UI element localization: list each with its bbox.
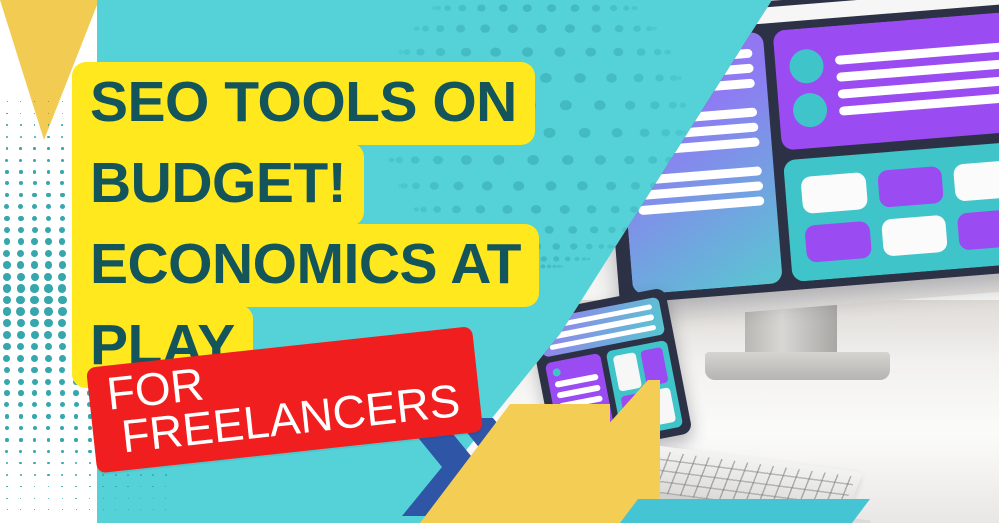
dashboard-tile	[881, 215, 948, 257]
dashboard-card-teal	[783, 140, 999, 282]
promo-banner: SEO TOOLS ON BUDGET! ECONOMICS AT PLAY F…	[0, 0, 999, 523]
dashboard-tile	[800, 172, 867, 214]
avatar-circle-icon	[788, 48, 825, 85]
dashboard-panel-right	[773, 11, 999, 282]
dashboard-tile	[877, 166, 944, 208]
teal-parallelogram	[620, 499, 870, 523]
text-block	[835, 42, 999, 116]
headline-line-1: SEO TOOLS ON	[72, 62, 535, 145]
headline-line-3: ECONOMICS AT	[72, 224, 539, 307]
avatar-group	[788, 48, 828, 128]
dashboard-tile	[804, 221, 871, 263]
headline-line-2: BUDGET!	[72, 143, 364, 226]
dashboard-tile	[957, 208, 999, 250]
dashboard-tile	[953, 160, 999, 202]
avatar-circle-icon	[792, 92, 829, 129]
dashboard-card-purple	[773, 11, 999, 151]
